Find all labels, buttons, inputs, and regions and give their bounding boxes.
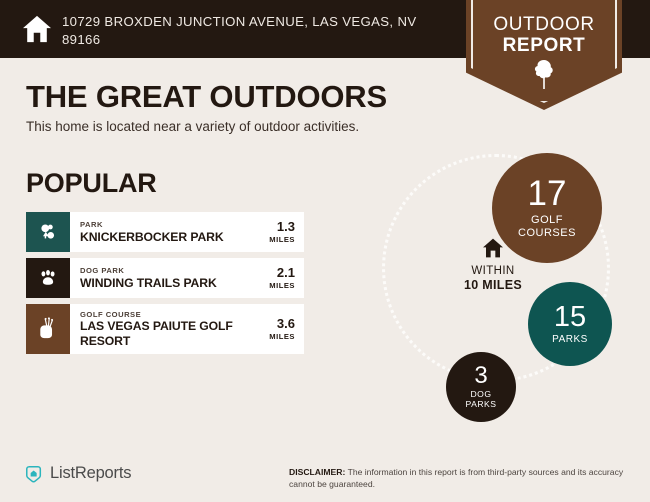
stat-label: DOG PARKS bbox=[466, 390, 497, 410]
property-address: 10729 BROXDEN JUNCTION AVENUE, LAS VEGAS… bbox=[62, 13, 452, 49]
golf-course-icon-box bbox=[26, 304, 70, 354]
badge-line-2: REPORT bbox=[466, 35, 622, 57]
footer: ListReports DISCLAIMER: The information … bbox=[0, 452, 650, 502]
stat-circle-golf-courses: 17 GOLF COURSES bbox=[492, 153, 602, 263]
distance-value: 2.1 bbox=[277, 266, 295, 280]
home-icon bbox=[22, 15, 52, 43]
park-text: PARK KNICKERBOCKER PARK bbox=[70, 212, 243, 252]
infographic-page: 10729 BROXDEN JUNCTION AVENUE, LAS VEGAS… bbox=[0, 0, 650, 502]
list-item[interactable]: PARK KNICKERBOCKER PARK 1.3 MILES bbox=[26, 212, 304, 252]
page-title: THE GREAT OUTDOORS bbox=[26, 79, 387, 115]
list-item-category: DOG PARK bbox=[80, 266, 239, 275]
list-item-category: GOLF COURSE bbox=[80, 310, 239, 319]
stat-count: 15 bbox=[554, 303, 586, 332]
home-icon bbox=[482, 238, 504, 258]
stat-label-line2: COURSES bbox=[518, 227, 576, 240]
golf-bag-icon bbox=[37, 317, 59, 341]
golf-course-text: GOLF COURSE LAS VEGAS PAIUTE GOLF RESORT bbox=[70, 304, 243, 354]
dog-park-icon-box bbox=[26, 258, 70, 298]
disclaimer: DISCLAIMER: The information in this repo… bbox=[289, 466, 635, 490]
distance-unit: MILES bbox=[269, 235, 295, 244]
badge-line-1: OUTDOOR bbox=[466, 14, 622, 36]
park-icon-box bbox=[26, 212, 70, 252]
within-label: WITHIN bbox=[438, 264, 548, 278]
list-item[interactable]: GOLF COURSE LAS VEGAS PAIUTE GOLF RESORT… bbox=[26, 304, 304, 354]
page-subtitle: This home is located near a variety of o… bbox=[26, 119, 359, 134]
distance-unit: MILES bbox=[269, 332, 295, 341]
disclaimer-label: DISCLAIMER: bbox=[289, 467, 345, 477]
tree-icon bbox=[532, 58, 556, 90]
outdoor-report-badge: OUTDOOR REPORT bbox=[466, 0, 622, 110]
popular-list: PARK KNICKERBOCKER PARK 1.3 MILES DOG PA… bbox=[26, 212, 304, 360]
listreports-house-icon bbox=[24, 464, 43, 483]
list-item-name: KNICKERBOCKER PARK bbox=[80, 230, 239, 244]
distance-value: 3.6 bbox=[277, 317, 295, 331]
stat-label: GOLF COURSES bbox=[518, 214, 576, 239]
stat-label: PARKS bbox=[552, 334, 588, 346]
distance-value: 1.3 bbox=[277, 220, 295, 234]
list-item-distance: 1.3 MILES bbox=[243, 212, 304, 252]
stat-count: 17 bbox=[528, 176, 567, 211]
list-item-distance: 3.6 MILES bbox=[243, 304, 304, 354]
stat-label-line2: PARKS bbox=[466, 400, 497, 410]
stat-circle-parks: 15 PARKS bbox=[528, 282, 612, 366]
list-item-category: PARK bbox=[80, 220, 239, 229]
dog-park-text: DOG PARK WINDING TRAILS PARK bbox=[70, 258, 243, 298]
proximity-diagram: WITHIN 10 MILES 17 GOLF COURSES 15 PARKS… bbox=[360, 130, 650, 430]
list-item[interactable]: DOG PARK WINDING TRAILS PARK 2.1 MILES bbox=[26, 258, 304, 298]
listreports-logo[interactable]: ListReports bbox=[24, 464, 131, 483]
list-item-name: WINDING TRAILS PARK bbox=[80, 276, 239, 290]
stat-label-line1: GOLF bbox=[518, 214, 576, 227]
stat-circle-dog-parks: 3 DOG PARKS bbox=[446, 352, 516, 422]
distance-unit: MILES bbox=[269, 281, 295, 290]
list-item-distance: 2.1 MILES bbox=[243, 258, 304, 298]
list-item-name: LAS VEGAS PAIUTE GOLF RESORT bbox=[80, 319, 239, 348]
listreports-logo-text: ListReports bbox=[50, 464, 131, 483]
radius-label: 10 MILES bbox=[438, 278, 548, 294]
popular-heading: POPULAR bbox=[26, 168, 157, 199]
paw-print-icon bbox=[37, 267, 59, 289]
stat-count: 3 bbox=[474, 364, 487, 388]
park-tree-icon bbox=[37, 221, 59, 243]
